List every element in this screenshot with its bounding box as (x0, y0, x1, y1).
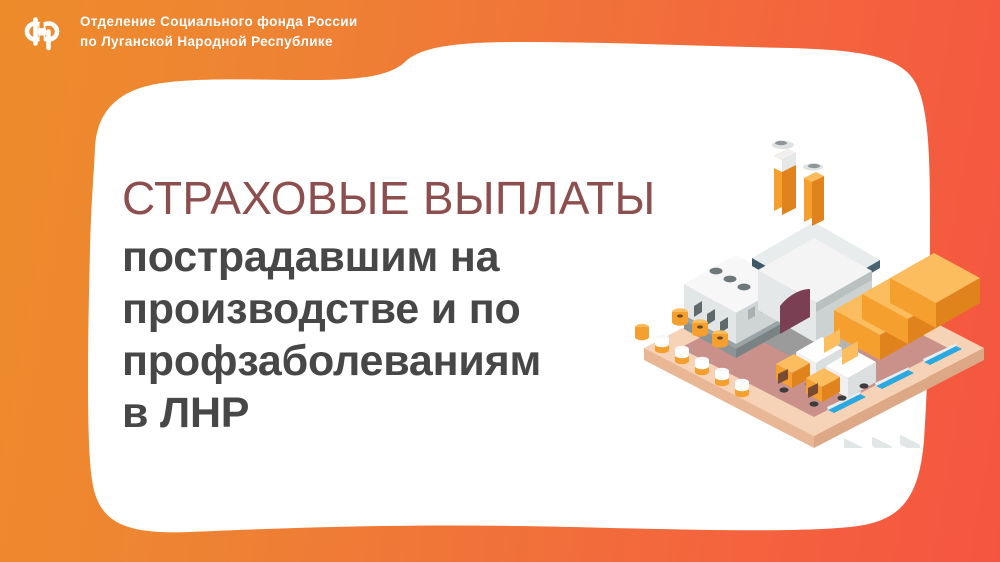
smokestack-tall (774, 149, 796, 215)
poster-canvas: Отделение Социального фонда России по Лу… (0, 0, 1000, 562)
page-title: СТРАХОВЫЕ ВЫПЛАТЫ пострадавшим на произв… (122, 175, 742, 435)
smokestack-short (804, 172, 824, 226)
headline-line-4: профзаболеваниям (122, 340, 742, 383)
headline-line-3: производстве и по (122, 288, 742, 331)
headline-line-1: СТРАХОВЫЕ ВЫПЛАТЫ (122, 175, 742, 221)
headline-line-5: в ЛНР (122, 392, 742, 435)
header: Отделение Социального фонда России по Лу… (18, 8, 358, 56)
headline-line-2: пострадавшим на (122, 236, 742, 279)
organization-name: Отделение Социального фонда России по Лу… (80, 12, 358, 52)
sfr-monogram-logo-icon (18, 8, 66, 56)
